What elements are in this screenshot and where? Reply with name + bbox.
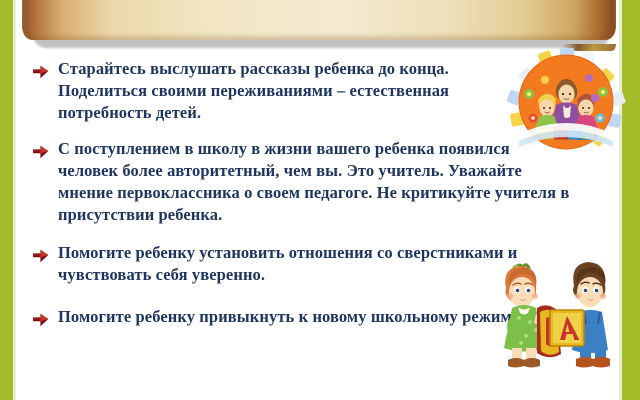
list-item-text: С поступлением в школу в жизни вашего ре… [58, 138, 573, 226]
list-item: Помогите ребенку привыкнуть к новому шко… [30, 306, 566, 328]
title-banner: Простые советы психолога: [22, 0, 616, 46]
teacher-and-pupils-illustration [505, 48, 627, 160]
arrow-bullet-icon [33, 63, 49, 77]
list-item: Старайтесь выслушать рассказы ребенка до… [30, 58, 526, 124]
left-edge-strip [0, 0, 13, 400]
arrow-bullet-icon [33, 247, 49, 261]
list-item-text: Помогите ребенку установить отношения со… [58, 242, 528, 286]
list-item-text: Старайтесь выслушать рассказы ребенка до… [58, 58, 526, 124]
arrow-bullet-icon [33, 311, 49, 325]
slide-canvas: Простые советы психолога: Старайтесь выс… [0, 0, 640, 400]
page-title: Простые советы психолога: [22, 0, 616, 40]
list-item: Помогите ребенку установить отношения со… [30, 242, 528, 286]
left-edge-strip-highlight [13, 0, 16, 400]
two-children-with-book-illustration [492, 252, 628, 380]
arrow-bullet-icon [33, 143, 49, 157]
list-item-text: Помогите ребенку привыкнуть к новому шко… [58, 306, 566, 328]
list-item: С поступлением в школу в жизни вашего ре… [30, 138, 573, 226]
